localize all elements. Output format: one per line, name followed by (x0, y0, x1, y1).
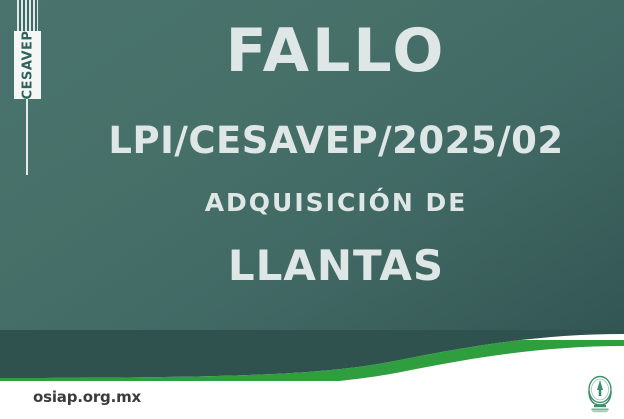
headline-stack: FALLO LPI/CESAVEP/2025/02 ADQUISICIÓN DE… (48, 0, 624, 330)
institutional-seal-icon (583, 374, 617, 414)
page-title: FALLO (48, 21, 624, 81)
subject-item: LLANTAS (48, 245, 624, 287)
poster-canvas: osiap.org.mx CESAVEP FALLO LPI/CESAVEP/2… (0, 0, 624, 419)
footer-url[interactable]: osiap.org.mx (33, 388, 141, 406)
subject-prefix: ADQUISICIÓN DE (48, 190, 624, 215)
procedure-code: LPI/CESAVEP/2025/02 (48, 122, 624, 159)
cesavep-ribbon-tag: CESAVEP (14, 31, 41, 99)
cesavep-ribbon-label: CESAVEP (20, 31, 35, 100)
ribbon-stem-icon (26, 99, 28, 175)
vertical-stripes-icon (17, 0, 38, 31)
